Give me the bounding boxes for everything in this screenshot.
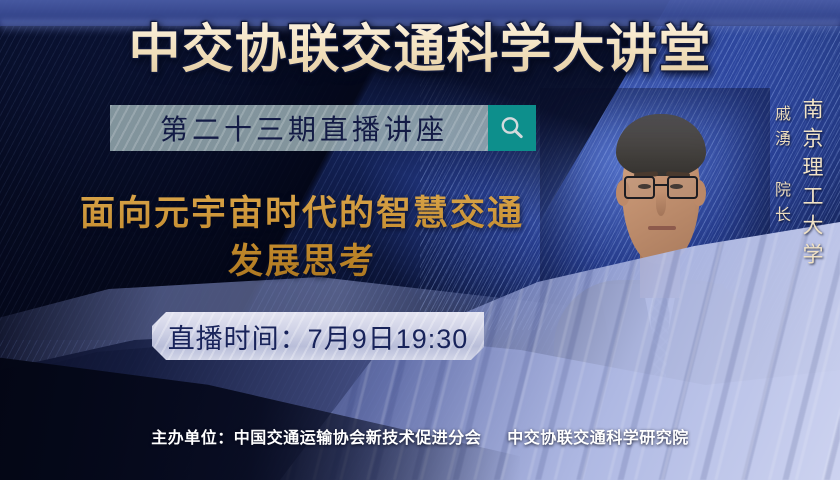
livestream-poster: 中交协联交通科学大讲堂 第二十三期直播讲座 面向元宇宙时代的智慧交通 发展思考 … — [0, 0, 840, 480]
footer-organizers: 主办单位：中国交通运输协会新技术促进分会中交协联交通科学研究院 — [0, 424, 840, 448]
glasses-lens-right — [667, 176, 698, 199]
footer-org-2: 中交协联交通科学研究院 — [507, 430, 689, 447]
footer-label: 主办单位： — [151, 430, 234, 447]
search-icon-box[interactable] — [488, 105, 536, 151]
footer-org-1: 中国交通运输协会新技术促进分会 — [234, 430, 482, 447]
portrait-hair — [616, 114, 706, 176]
portrait-mouth — [648, 226, 676, 230]
page-title: 中交协联交通科学大讲堂 — [0, 18, 840, 82]
subtitle-bar-fill: 第二十三期直播讲座 — [110, 105, 488, 151]
subtitle-text: 第二十三期直播讲座 — [150, 108, 448, 148]
broadcast-time-text: 直播时间：7月9日19:30 — [168, 317, 469, 356]
portrait-nose — [656, 192, 666, 216]
subtitle-bar: 第二十三期直播讲座 — [110, 105, 536, 151]
search-icon — [498, 114, 526, 142]
lecture-title: 面向元宇宙时代的智慧交通 发展思考 — [52, 190, 552, 286]
glasses-lens-left — [624, 176, 655, 199]
lecture-title-line1: 面向元宇宙时代的智慧交通 — [52, 190, 552, 238]
lecture-title-line2: 发展思考 — [52, 238, 552, 286]
speaker-name-title: 戚湧 院长 — [772, 105, 788, 231]
glasses-bridge — [655, 184, 667, 186]
broadcast-time-banner: 直播时间：7月9日19:30 — [152, 312, 484, 360]
speaker-organization: 南京理工大学 — [801, 98, 822, 272]
